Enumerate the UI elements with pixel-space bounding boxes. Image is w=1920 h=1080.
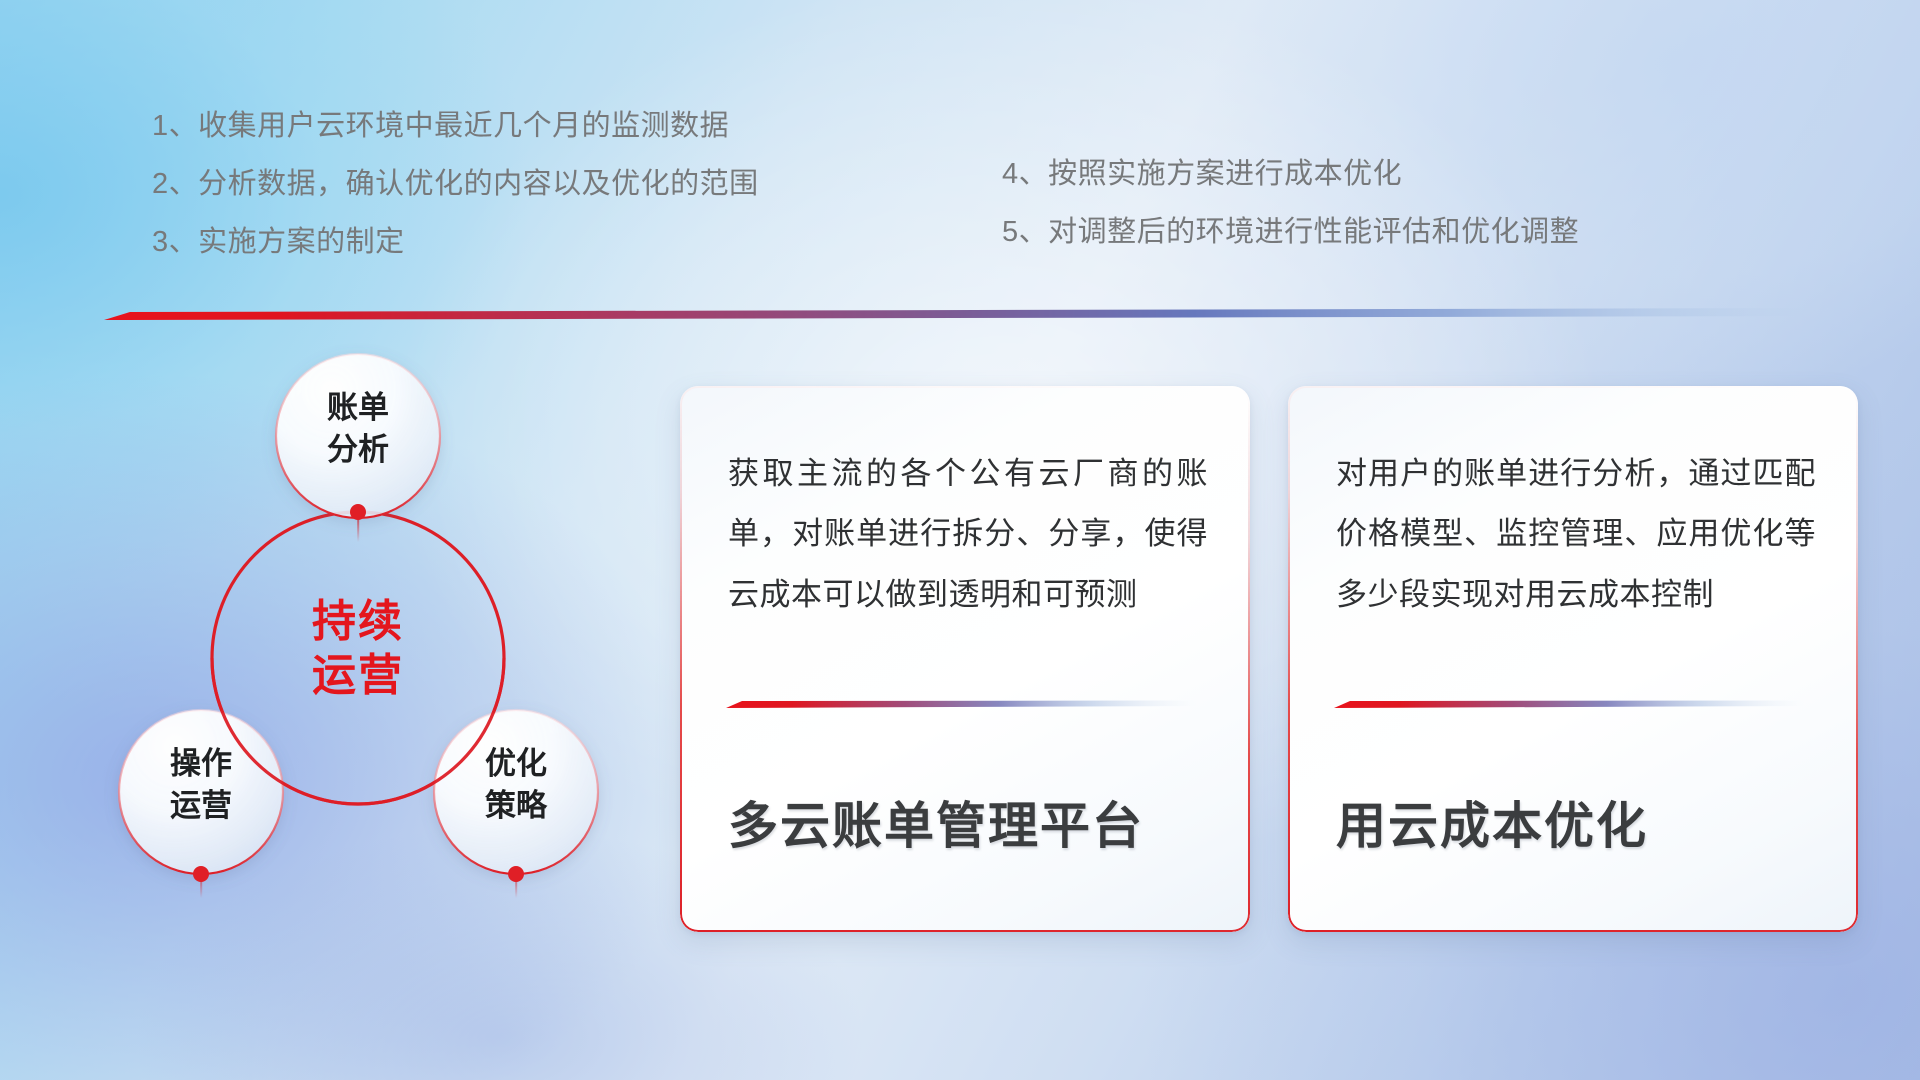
card-cloud-cost-optimization[interactable]: 对用户的账单进行分析，通过匹配价格模型、监控管理、应用优化等多少段实现对用云成本… — [1288, 386, 1858, 932]
venn-label-line2: 运营 — [170, 788, 232, 823]
card-accent-line — [1334, 700, 1804, 709]
steps-list-right: 4、按照实施方案进行成本优化 5、对调整后的环境进行性能评估和优化调整 — [1002, 160, 1579, 247]
card-body-text: 获取主流的各个公有云厂商的账单，对账单进行拆分、分享，使得云成本可以做到透明和可… — [728, 444, 1208, 625]
venn-circle-operations[interactable]: 操作 运营 — [119, 710, 283, 874]
list-item: 2、分析数据，确认优化的内容以及优化的范围 — [152, 170, 759, 199]
venn-circle-billing-analysis[interactable]: 账单 分析 — [276, 354, 440, 518]
venn-label-line1: 优化 — [485, 746, 547, 781]
continuous-operation-venn-diagram: 账单 分析 操作 运营 优化 策略 持续 运营 — [92, 340, 652, 960]
venn-label-line2: 策略 — [485, 788, 548, 823]
node-dot-right — [508, 866, 524, 882]
card-title: 多云账单管理平台 — [728, 786, 1144, 858]
card-multi-cloud-billing[interactable]: 获取主流的各个公有云厂商的账单，对账单进行拆分、分享，使得云成本可以做到透明和可… — [680, 386, 1250, 932]
venn-label-line1: 操作 — [170, 746, 232, 781]
venn-circle-optimization-strategy[interactable]: 优化 策略 — [434, 710, 598, 874]
card-accent-line — [726, 700, 1196, 709]
list-item: 1、收集用户云环境中最近几个月的监测数据 — [152, 112, 759, 141]
list-item: 5、对调整后的环境进行性能评估和优化调整 — [1002, 218, 1579, 247]
venn-label-line1: 账单 — [327, 390, 389, 425]
list-item: 3、实施方案的制定 — [152, 228, 759, 257]
node-dot-left — [193, 866, 209, 882]
venn-center-label-line1: 持续 — [312, 597, 404, 646]
section-divider — [104, 306, 1834, 322]
node-dot-top — [350, 504, 366, 520]
card-body-text: 对用户的账单进行分析，通过匹配价格模型、监控管理、应用优化等多少段实现对用云成本… — [1336, 444, 1816, 625]
card-title: 用云成本优化 — [1336, 786, 1648, 858]
steps-list-left: 1、收集用户云环境中最近几个月的监测数据 2、分析数据，确认优化的内容以及优化的… — [152, 112, 759, 257]
venn-center-label-line2: 运营 — [312, 651, 404, 700]
list-item: 4、按照实施方案进行成本优化 — [1002, 160, 1579, 189]
venn-label-line2: 分析 — [327, 432, 389, 467]
